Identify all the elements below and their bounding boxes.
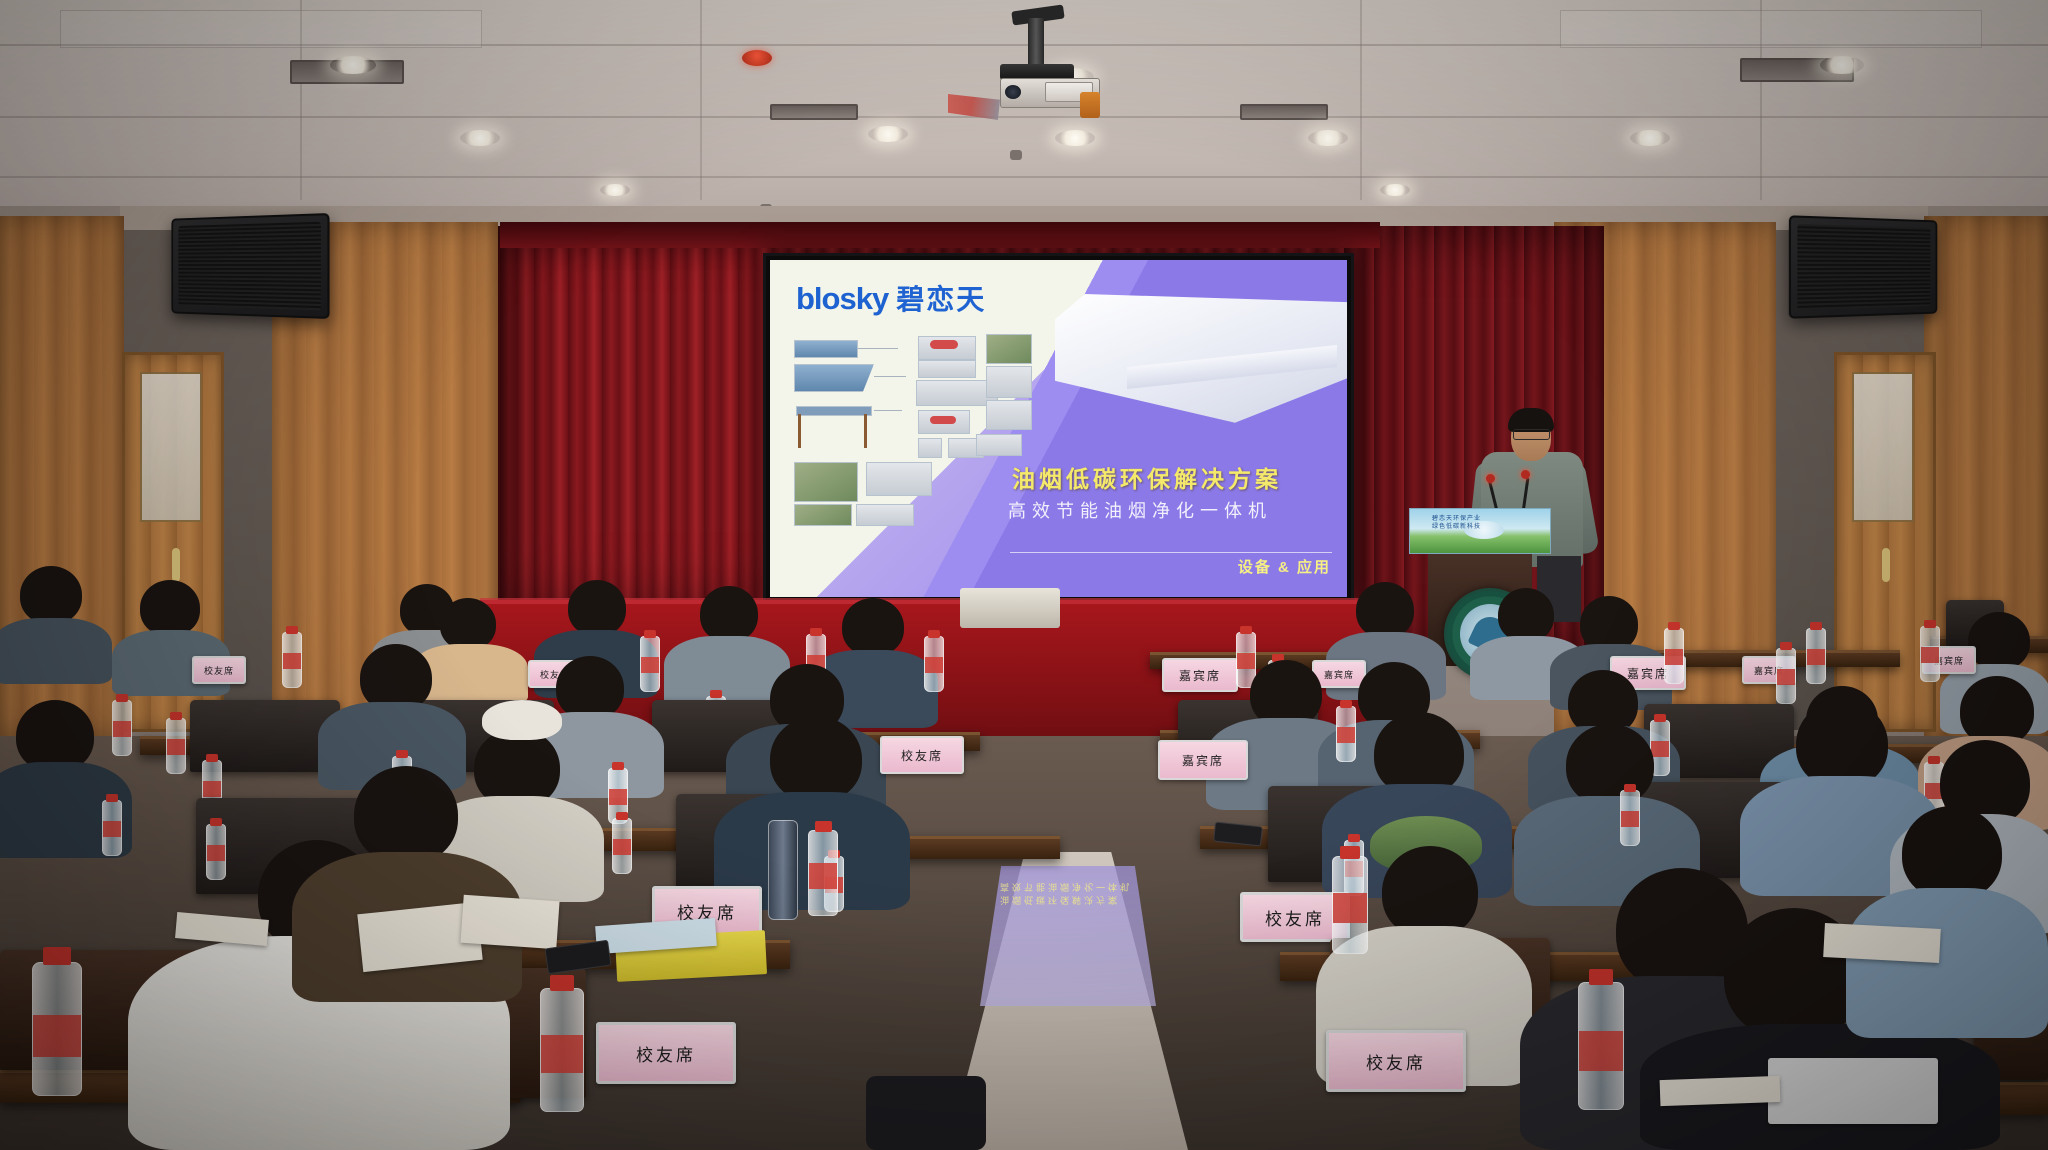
- podium-microphone: [1486, 474, 1495, 483]
- stage-step: [960, 588, 1060, 628]
- slide-thumbnail-grid: [790, 334, 1040, 524]
- audience-head: [1902, 806, 2002, 900]
- ceiling-downlight: [1630, 130, 1670, 146]
- audience-head: [20, 566, 82, 624]
- water-bottle[interactable]: [640, 636, 660, 692]
- presenter-glasses-icon: [1513, 429, 1550, 440]
- audience-person: [0, 618, 112, 684]
- projector-cable-box: [1080, 92, 1100, 118]
- water-bottle[interactable]: [1336, 706, 1356, 762]
- audience-head: [770, 716, 862, 802]
- water-bottle[interactable]: [1332, 856, 1368, 954]
- placard-alumni: 校友席: [1326, 1030, 1466, 1092]
- conference-hall-photo: blosky碧恋天: [0, 0, 2048, 1150]
- water-bottle[interactable]: [612, 818, 632, 874]
- audience-head: [1796, 700, 1888, 788]
- water-bottle[interactable]: [1620, 790, 1640, 846]
- placard-alumni: 校友席: [880, 736, 964, 774]
- curtain-valance: [500, 222, 1380, 248]
- water-bottle[interactable]: [282, 632, 302, 688]
- placard-alumni: 校友席: [192, 656, 246, 684]
- podium-banner: 碧恋天环保产业绿色低碳新科技: [1409, 508, 1551, 554]
- ceiling: [0, 0, 2048, 230]
- water-bottle[interactable]: [540, 988, 584, 1112]
- audience-head: [700, 586, 758, 642]
- ceiling-vent: [770, 104, 858, 120]
- placard-guest: 嘉宾席: [1158, 740, 1248, 780]
- audience-head: [1968, 612, 2030, 670]
- slide-brand-logo: blosky碧恋天: [796, 278, 986, 318]
- ceiling-downlight: [460, 130, 500, 146]
- water-bottle[interactable]: [1578, 982, 1624, 1110]
- audience-person: [1846, 888, 2048, 1038]
- door-left-glass: [140, 372, 202, 522]
- water-bottle[interactable]: [1776, 648, 1796, 704]
- ceiling-vent: [1240, 104, 1328, 120]
- water-bottle[interactable]: [32, 962, 82, 1096]
- water-bottle[interactable]: [102, 800, 122, 856]
- slide-divider: [1010, 552, 1332, 553]
- audience-head: [140, 580, 200, 636]
- door-right-handle[interactable]: [1882, 548, 1890, 582]
- door-left-handle[interactable]: [172, 548, 180, 582]
- placard-alumni: 校友席: [596, 1022, 736, 1084]
- water-bottle[interactable]: [1664, 628, 1684, 684]
- ceiling-downlight: [1820, 56, 1864, 74]
- smoke-detector: [742, 50, 772, 66]
- audience-cap: [482, 700, 562, 740]
- placard-guest: 嘉宾席: [1162, 658, 1238, 692]
- podium-banner-text: 碧恋天环保产业绿色低碳新科技: [1432, 515, 1481, 531]
- slide-tag: 设备 & 应用: [1238, 556, 1331, 577]
- projected-slide: blosky碧恋天: [770, 260, 1347, 597]
- audience-head: [1498, 588, 1554, 642]
- water-bottle[interactable]: [112, 700, 132, 756]
- handout-paper[interactable]: [460, 895, 559, 950]
- ceiling-downlight: [1055, 130, 1095, 146]
- audience-head: [1382, 846, 1478, 938]
- water-bottle[interactable]: [924, 636, 944, 692]
- water-bottle[interactable]: [1920, 626, 1940, 682]
- floor-reflection-text: 油烟低碳环保解决方案高效节能油烟净化一体机: [1000, 880, 1150, 906]
- water-bottle[interactable]: [206, 824, 226, 880]
- audience-head: [568, 580, 626, 636]
- audience-head: [1356, 582, 1414, 638]
- audience-head: [354, 766, 458, 864]
- wall-speaker-left: [171, 213, 329, 319]
- slide-title: 油烟低碳环保解决方案: [1012, 460, 1282, 494]
- ceiling-downlight: [868, 126, 908, 142]
- ceiling-downlight: [330, 56, 376, 74]
- projector-lens-icon: [1005, 85, 1021, 99]
- audience-head: [842, 598, 904, 656]
- projection-screen: blosky碧恋天: [763, 253, 1354, 604]
- handout-paper[interactable]: [1660, 1076, 1781, 1106]
- audience-head: [440, 598, 496, 650]
- slide-brand-latin: blosky: [796, 281, 888, 316]
- audience-head: [556, 656, 624, 720]
- podium-microphone-2: [1521, 470, 1530, 479]
- audience-head: [1566, 724, 1654, 806]
- ceiling-downlight: [1380, 184, 1410, 196]
- water-bottle[interactable]: [808, 830, 838, 916]
- audience-bag: [866, 1076, 986, 1150]
- door-right-glass: [1852, 372, 1914, 522]
- slide-brand-cn: 碧恋天: [896, 284, 986, 315]
- slide-subtitle: 高效节能油烟净化一体机: [1008, 498, 1308, 524]
- wall-speaker-right: [1789, 215, 1937, 318]
- ceiling-downlight: [600, 184, 630, 196]
- ceiling-downlight: [1308, 130, 1348, 146]
- water-bottle[interactable]: [166, 718, 186, 774]
- t-shirt-print: [1768, 1058, 1938, 1124]
- water-bottle[interactable]: [1806, 628, 1826, 684]
- handout-paper[interactable]: [1823, 923, 1941, 963]
- thermos-bottle[interactable]: [768, 820, 798, 920]
